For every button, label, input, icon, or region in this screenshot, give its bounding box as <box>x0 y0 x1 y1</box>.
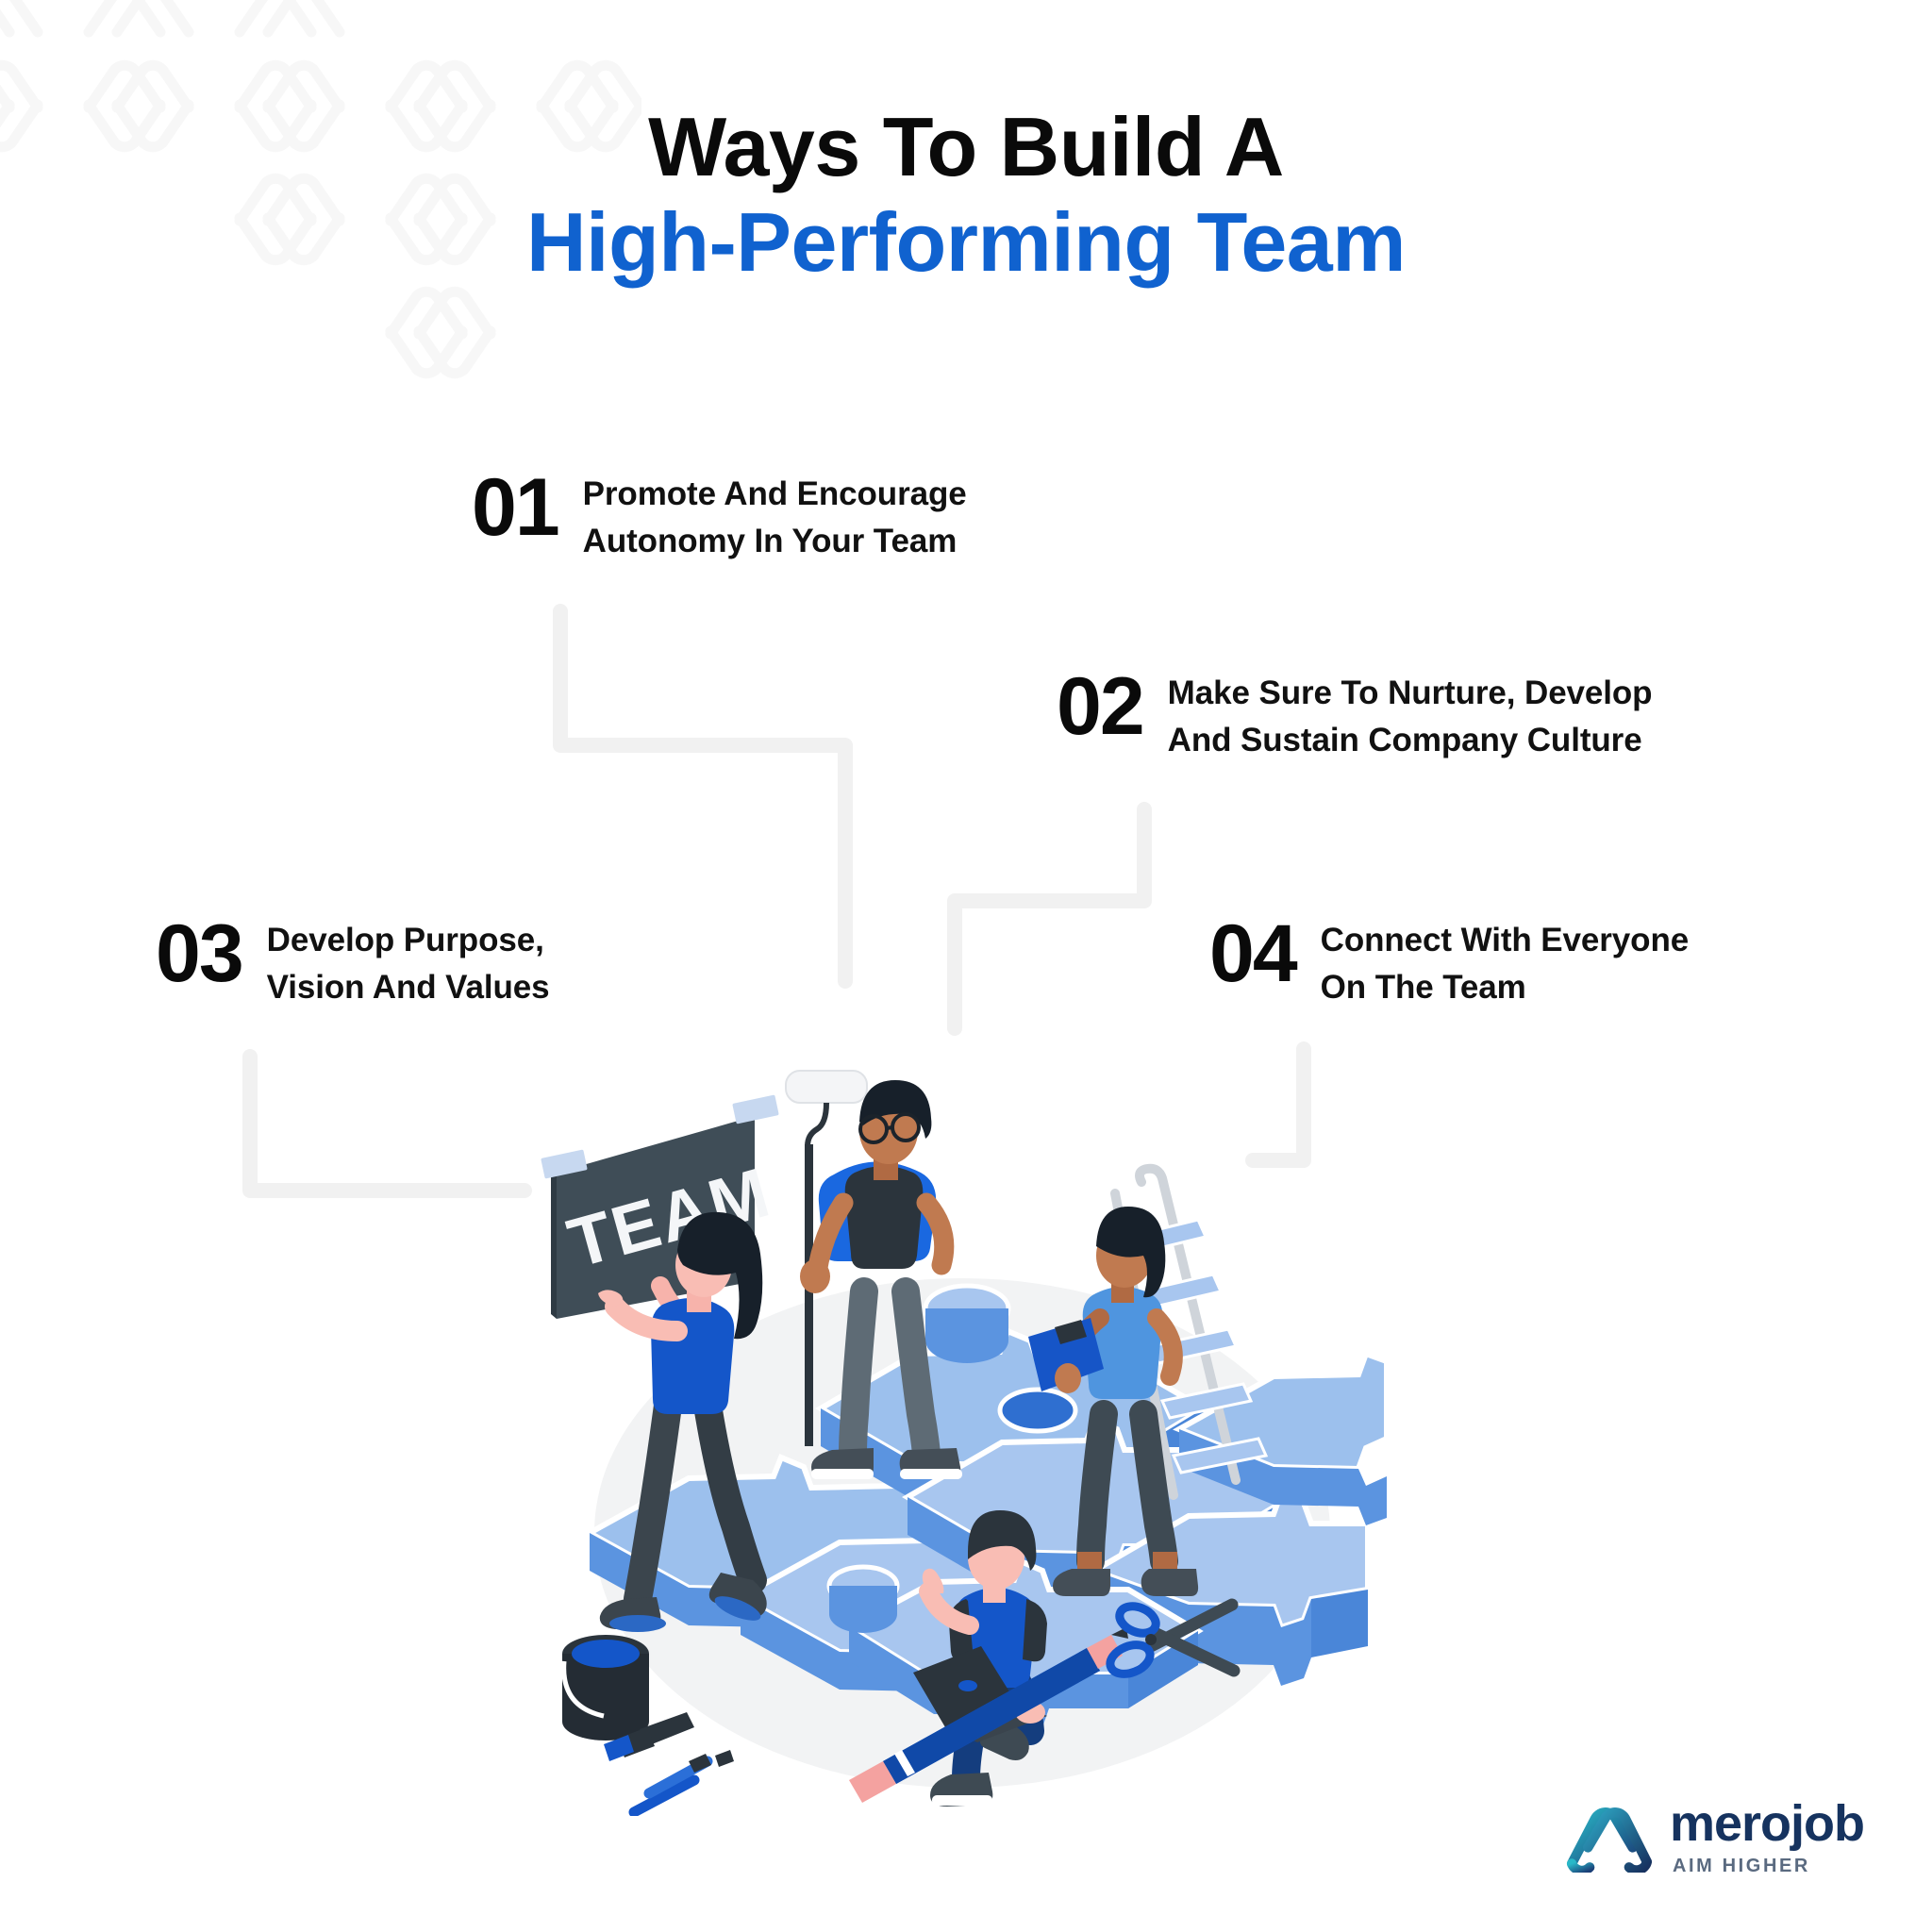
logo-tagline: AIM HIGHER <box>1673 1856 1864 1877</box>
connector-02 <box>955 809 1144 1028</box>
list-item-04[interactable]: 04 Connect With Everyone On The Team <box>1209 913 1689 1010</box>
item-text-line-1: Connect With Everyone <box>1321 917 1689 964</box>
title-line-2: High-Performing Team <box>0 192 1932 292</box>
item-text: Connect With Everyone On The Team <box>1321 913 1689 1010</box>
list-item-03[interactable]: 03 Develop Purpose, Vision And Values <box>156 913 549 1010</box>
item-text: Develop Purpose, Vision And Values <box>267 913 550 1010</box>
title-line-1: Ways To Build A <box>0 102 1932 192</box>
item-number: 02 <box>1057 666 1143 747</box>
logo-wordmark: merojob <box>1670 1798 1864 1849</box>
item-text-line-1: Develop Purpose, <box>267 917 550 964</box>
item-text: Make Sure To Nurture, Develop And Sustai… <box>1168 666 1653 763</box>
item-number: 01 <box>472 467 558 548</box>
item-text-line-2: Autonomy In Your Team <box>583 518 967 565</box>
item-text-line-1: Promote And Encourage <box>583 471 967 518</box>
item-text-line-2: And Sustain Company Culture <box>1168 717 1653 764</box>
item-text-line-2: Vision And Values <box>267 964 550 1011</box>
merojob-logo[interactable]: merojob AIM HIGHER <box>1564 1798 1864 1877</box>
connector-01 <box>560 611 845 981</box>
connector-03 <box>250 1057 525 1191</box>
item-text-line-1: Make Sure To Nurture, Develop <box>1168 670 1653 717</box>
item-number: 04 <box>1209 913 1296 994</box>
item-number: 03 <box>156 913 242 994</box>
team-puzzle-illustration: TEAM <box>538 1061 1387 1816</box>
page-title: Ways To Build A High-Performing Team <box>0 102 1932 292</box>
list-item-02[interactable]: 02 Make Sure To Nurture, Develop And Sus… <box>1057 666 1652 763</box>
item-text: Promote And Encourage Autonomy In Your T… <box>583 467 967 564</box>
list-item-01[interactable]: 01 Promote And Encourage Autonomy In You… <box>472 467 967 564</box>
item-text-line-2: On The Team <box>1321 964 1689 1011</box>
infographic-canvas: Ways To Build A High-Performing Team 01 … <box>0 0 1932 1932</box>
merojob-logo-mark <box>1564 1803 1655 1873</box>
